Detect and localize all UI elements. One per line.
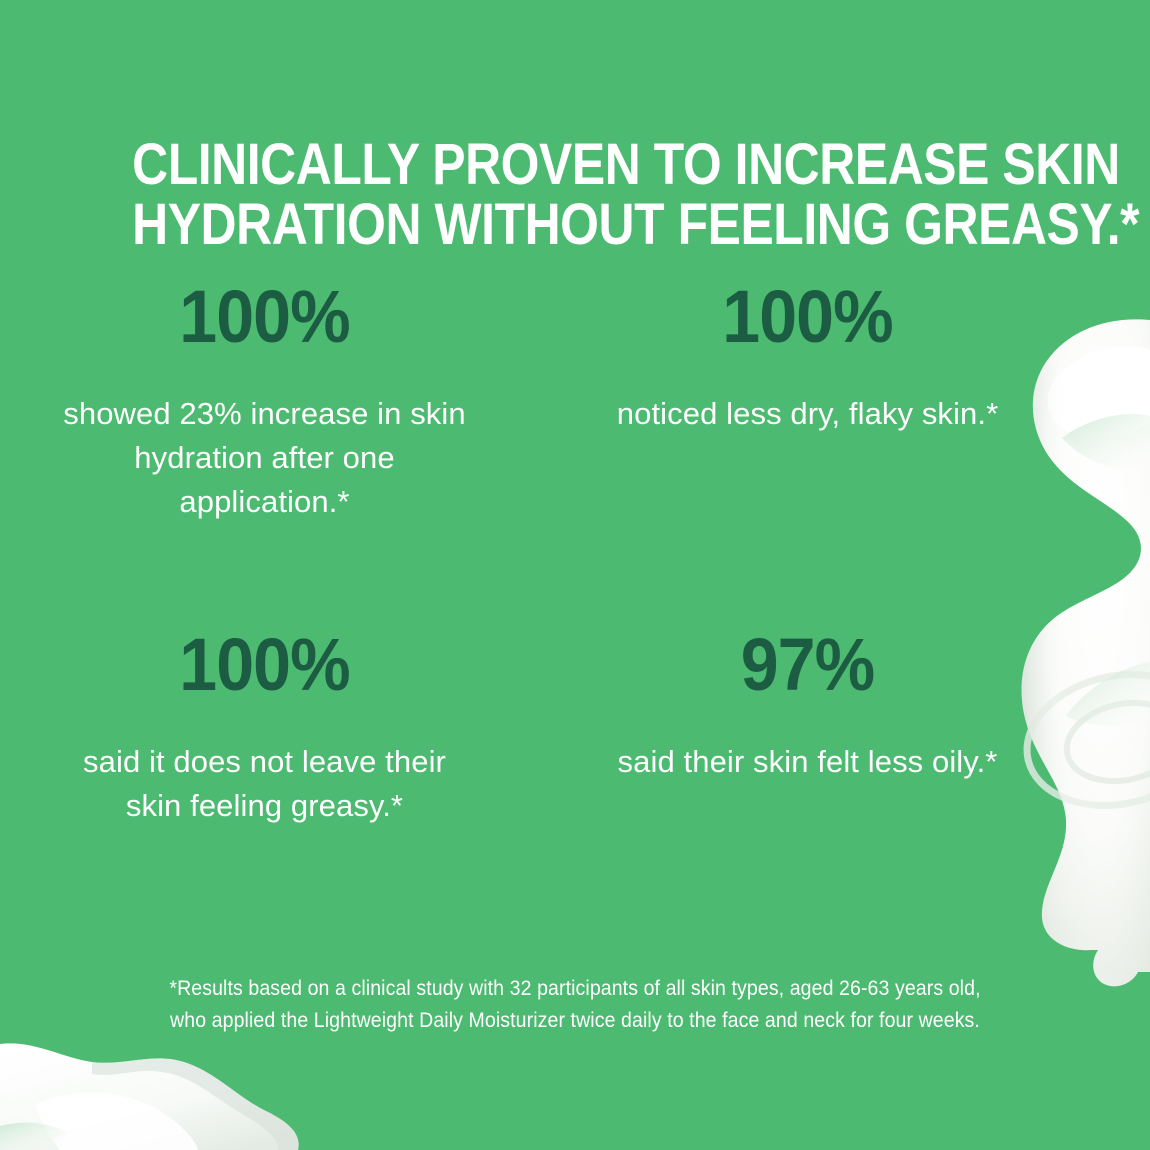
stat-block-less-oily: 97% said their skin felt less oily.* xyxy=(585,628,1090,828)
stat-value: 100% xyxy=(76,628,452,702)
headline-line-1: CLINICALLY PROVEN TO INCREASE SKIN xyxy=(132,135,1018,195)
stat-description: said it does not leave their skin feelin… xyxy=(60,740,469,828)
stat-block-hydration-increase: 100% showed 23% increase in skin hydrati… xyxy=(60,280,565,524)
cream-swirl-bottom-left-shape xyxy=(0,1043,299,1150)
stat-value: 97% xyxy=(603,628,1012,702)
promo-poster: CLINICALLY PROVEN TO INCREASE SKIN HYDRA… xyxy=(0,0,1150,1150)
stat-description: said their skin felt less oily.* xyxy=(585,740,1030,784)
headline-line-2: HYDRATION WITHOUT FEELING GREASY.* xyxy=(132,195,1018,255)
stat-value: 100% xyxy=(76,280,452,354)
stat-block-less-dry-flaky: 100% noticed less dry, flaky skin.* xyxy=(585,280,1090,524)
cream-swirl-bottom-left-group xyxy=(0,1043,299,1150)
stat-block-not-greasy: 100% said it does not leave their skin f… xyxy=(60,628,565,828)
cream-highlight-bottom-left xyxy=(36,1093,198,1150)
stat-value: 100% xyxy=(603,280,1012,354)
cream-edge-shadow-bottom-left xyxy=(92,1058,299,1150)
study-disclaimer: *Results based on a clinical study with … xyxy=(157,973,994,1036)
page-title: CLINICALLY PROVEN TO INCREASE SKIN HYDRA… xyxy=(81,135,1070,256)
stat-description: noticed less dry, flaky skin.* xyxy=(585,392,1030,436)
cream-green-tint-bottom-left xyxy=(0,1123,66,1150)
stat-description: showed 23% increase in skin hydration af… xyxy=(60,392,469,524)
clinical-results-grid: 100% showed 23% increase in skin hydrati… xyxy=(60,280,1090,828)
